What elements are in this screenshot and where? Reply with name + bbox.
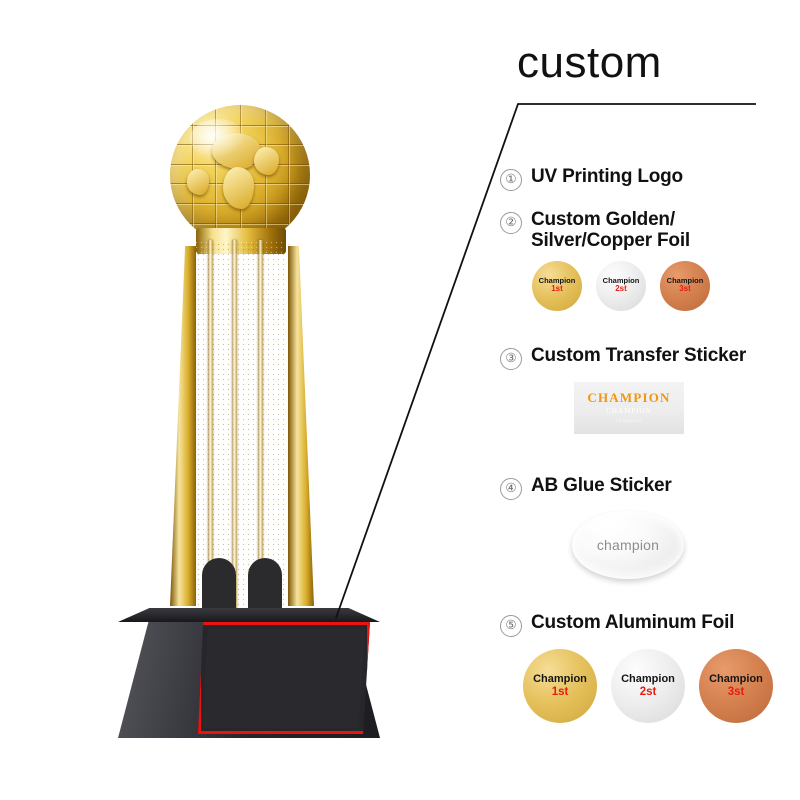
option-label-2-line1: Custom Golden/ (531, 209, 675, 230)
foil-rank: 1st (552, 686, 569, 699)
globe-topper (170, 105, 310, 245)
custom-options-panel: custom ① UV Printing Logo ② Custom Golde… (495, 0, 800, 800)
option-label-5: Custom Aluminum Foil (531, 612, 734, 633)
copper-foil-swatch-large[interactable]: Champion 3st (699, 649, 773, 723)
option-item-transfer-sticker[interactable]: ③ Custom Transfer Sticker CHAMPION CHAMP… (500, 345, 800, 434)
foil-swatch-row-large: Champion 1st Champion 2st Champion 3st (523, 649, 800, 723)
page-title: custom (517, 38, 662, 88)
trophy-product-image (0, 0, 470, 800)
transfer-sticker-subtitle-2: champion (574, 418, 684, 424)
silver-foil-swatch-large[interactable]: Champion 2st (611, 649, 685, 723)
foil-word: Champion (621, 673, 675, 685)
ab-glue-sticker-word: champion (597, 537, 659, 553)
gold-foil-swatch-small[interactable]: Champion 1st (532, 261, 582, 311)
gold-foil-swatch-large[interactable]: Champion 1st (523, 649, 597, 723)
foil-rank: 2st (615, 285, 627, 294)
silver-foil-swatch-small[interactable]: Champion 2st (596, 261, 646, 311)
globe-highlight (190, 119, 246, 158)
foil-word: Champion (709, 673, 763, 685)
trophy-column (170, 240, 314, 620)
trophy-base (118, 608, 380, 740)
option-item-uv-printing-logo[interactable]: ① UV Printing Logo (500, 166, 800, 191)
item-number-3: ③ (500, 348, 522, 370)
option-label-1: UV Printing Logo (531, 166, 683, 187)
ab-glue-sticker-sample[interactable]: champion (572, 511, 684, 579)
dome-highlight (583, 516, 637, 536)
foil-rank: 2st (640, 686, 657, 699)
item-number-4: ④ (500, 478, 522, 500)
item-number-2: ② (500, 212, 522, 234)
option-label-2-line2: Silver/Copper Foil (531, 230, 690, 251)
engraving-area-highlight (198, 622, 370, 734)
transfer-sticker-sample[interactable]: CHAMPION CHAMPION champion (574, 382, 684, 434)
option-label-4: AB Glue Sticker (531, 475, 672, 496)
foil-rank: 3st (728, 686, 745, 699)
screenshot-canvas: custom ① UV Printing Logo ② Custom Golde… (0, 0, 800, 800)
transfer-sticker-word: CHAMPION (574, 390, 684, 406)
option-item-custom-foil[interactable]: ② Custom Golden/ Silver/Copper Foil Cham… (500, 209, 800, 311)
option-item-aluminum-foil[interactable]: ⑤ Custom Aluminum Foil Champion 1st Cham… (500, 612, 800, 723)
foil-rank: 1st (551, 285, 563, 294)
foil-word: Champion (533, 673, 587, 685)
option-label-3: Custom Transfer Sticker (531, 345, 746, 366)
copper-foil-swatch-small[interactable]: Champion 3st (660, 261, 710, 311)
item-number-1: ① (500, 169, 522, 191)
foil-rank: 3st (679, 285, 691, 294)
item-number-5: ⑤ (500, 615, 522, 637)
transfer-sticker-subtitle: CHAMPION (574, 407, 684, 415)
option-item-ab-glue-sticker[interactable]: ④ AB Glue Sticker champion (500, 475, 800, 579)
foil-swatch-row-small: Champion 1st Champion 2st Champion 3st (532, 261, 800, 311)
